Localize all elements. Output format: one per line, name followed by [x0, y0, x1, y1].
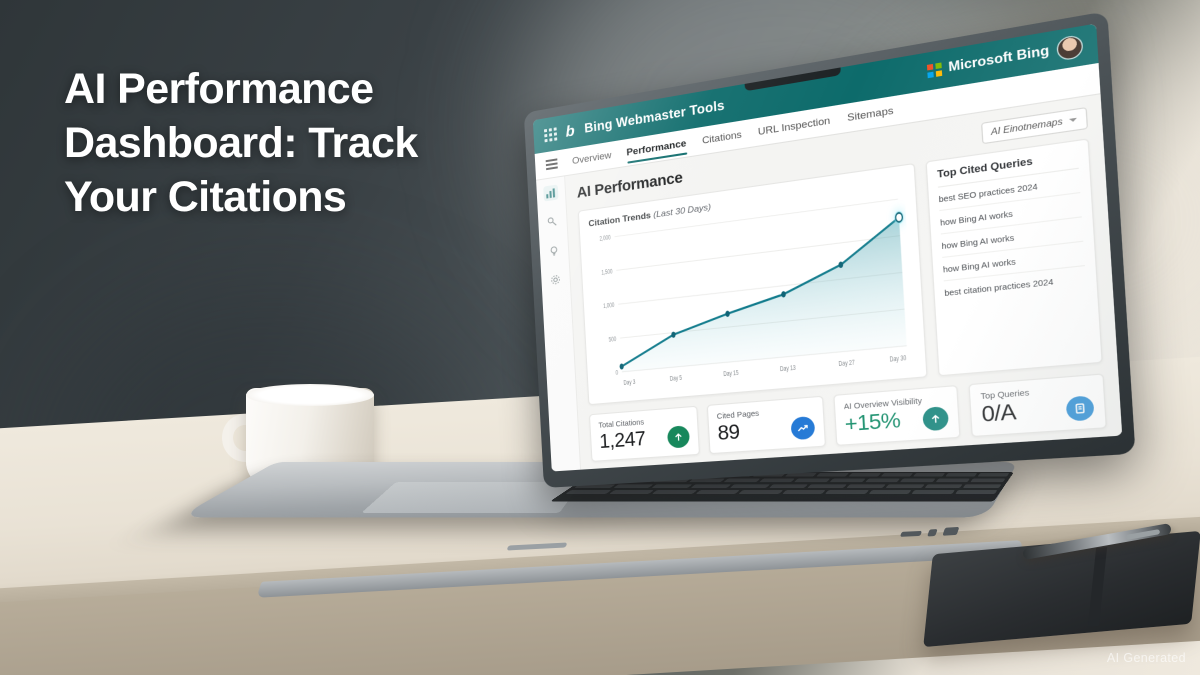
svg-text:1,500: 1,500 — [601, 269, 613, 278]
key-icon[interactable] — [545, 213, 560, 230]
laptop-lip-notch — [507, 542, 568, 550]
stat-value: 0/A — [981, 402, 1017, 427]
svg-text:1,000: 1,000 — [603, 302, 615, 310]
stat-row: +15% — [844, 406, 949, 437]
page-title: AI Performance — [576, 169, 683, 201]
tab-overview[interactable]: Overview — [572, 144, 612, 172]
svg-text:Day 13: Day 13 — [780, 365, 796, 374]
scope-dropdown-value: AI Einotnemaps — [991, 116, 1063, 137]
chart-y-tick-labels: 05001,0001,5002,000 — [599, 235, 618, 378]
svg-text:500: 500 — [609, 336, 617, 344]
hamburger-icon[interactable] — [546, 159, 558, 170]
ai-generated-watermark: AI Generated — [1107, 651, 1186, 665]
webmaster-tools-app: b Bing Webmaster Tools Microsoft Bing Ov… — [533, 24, 1122, 472]
laptop-lid: b Bing Webmaster Tools Microsoft Bing Ov… — [524, 11, 1136, 488]
lightbulb-icon[interactable] — [546, 242, 561, 259]
headline-line-1: AI Performance — [64, 62, 544, 116]
stat-card-ai-overview-visibility[interactable]: AI Overview Visibility +15% — [833, 385, 961, 446]
stat-card-top-queries[interactable]: Top Queries 0/A — [969, 373, 1107, 437]
app-launcher-icon[interactable] — [544, 127, 557, 142]
svg-text:Day 27: Day 27 — [838, 359, 855, 368]
user-avatar-icon[interactable] — [1056, 34, 1083, 61]
svg-text:Day 3: Day 3 — [623, 379, 635, 387]
chevron-down-icon — [1069, 118, 1077, 123]
laptop-screen: b Bing Webmaster Tools Microsoft Bing Ov… — [533, 24, 1122, 472]
svg-text:Day 30: Day 30 — [889, 355, 906, 364]
laptop-ports — [899, 521, 1016, 541]
svg-text:0: 0 — [615, 370, 618, 377]
arrow-up-icon — [667, 425, 690, 448]
svg-text:Day 15: Day 15 — [723, 370, 739, 379]
stat-value: +15% — [844, 410, 901, 436]
svg-text:2,000: 2,000 — [599, 235, 611, 244]
stat-card-total-citations[interactable]: Total Citations 1,247 — [589, 406, 700, 462]
gear-icon[interactable] — [548, 271, 563, 288]
microsoft-bing-label: Microsoft Bing — [948, 44, 1050, 74]
document-icon — [1066, 395, 1095, 421]
svg-text:Day 5: Day 5 — [670, 375, 683, 383]
trend-up-icon — [790, 416, 815, 440]
bing-logo-icon: b — [565, 123, 575, 140]
citation-trends-card: Citation Trends (Last 30 Days) — [578, 163, 928, 405]
laptop: b Bing Webmaster Tools Microsoft Bing Ov… — [276, 110, 1076, 580]
arrow-up-icon — [923, 406, 950, 431]
tab-citations[interactable]: Citations — [701, 123, 742, 152]
microsoft-logo-icon — [927, 63, 942, 78]
top-cited-queries-card: Top Cited Queries best SEO practices 202… — [925, 138, 1102, 376]
stat-value: 1,247 — [599, 429, 646, 453]
laptop-trackpad — [361, 482, 582, 513]
stat-value: 89 — [717, 422, 740, 445]
screenshot-stage: AI Performance Dashboard: Track Your Cit… — [0, 0, 1200, 675]
scope-dropdown[interactable]: AI Einotnemaps — [980, 107, 1088, 144]
bar-chart-icon[interactable] — [543, 184, 558, 201]
stat-row: 0/A — [981, 395, 1095, 427]
stat-row: 89 — [717, 416, 815, 445]
stat-row: 1,247 — [599, 425, 690, 453]
stat-card-cited-pages[interactable]: Cited Pages 89 — [706, 396, 825, 454]
tab-sitemaps[interactable]: Sitemaps — [847, 98, 895, 129]
